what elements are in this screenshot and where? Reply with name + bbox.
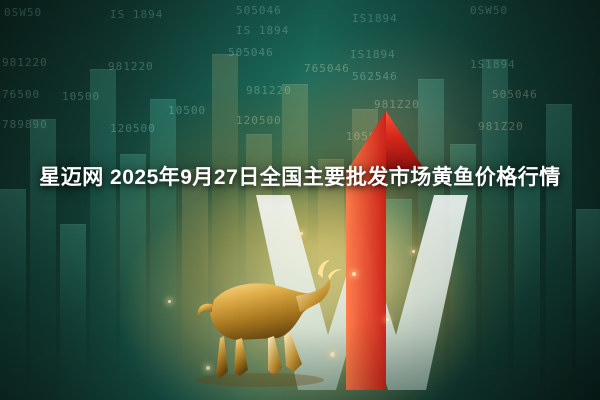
caption-text: 星迈网 2025年9月27日全国主要批发市场黄鱼价格行情	[0, 158, 600, 198]
vignette	[0, 0, 600, 400]
cover-image: 0SW50 IS 1894 IS 1894 IS1894 0SW50 98122…	[0, 0, 600, 400]
site-name: 星迈网 2025年9月27日全国主要批发市场黄鱼价格行情	[39, 166, 561, 189]
